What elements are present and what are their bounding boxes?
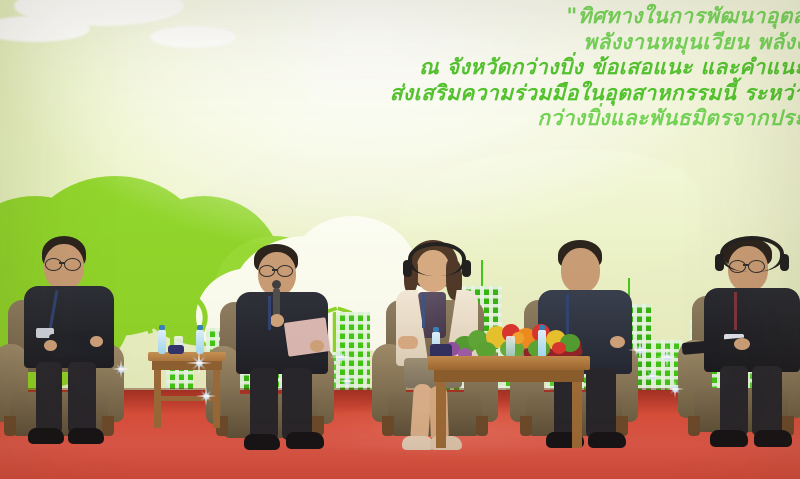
glasses-icon <box>277 265 293 277</box>
lanyard <box>734 292 737 330</box>
hand <box>90 336 103 347</box>
hand <box>734 338 750 350</box>
shoe <box>68 428 104 444</box>
banner-line-1: "ทิศทางในการพัฒนาอุตส <box>186 4 800 30</box>
leg <box>752 366 782 436</box>
glasses-icon <box>259 265 275 277</box>
drinking-glass <box>506 336 515 358</box>
shoe <box>710 430 748 447</box>
headphones-icon <box>720 236 784 272</box>
hand <box>44 340 57 351</box>
banner-line-3: ณ จังหวัดกว่างบิ่ง ข้อเสอแนะ และคำแนะ <box>186 55 800 81</box>
shoe <box>588 432 626 448</box>
leg <box>250 368 278 440</box>
shoe <box>754 430 792 447</box>
banner-line-4: ส่งเสริมความร่วมมือในอุตสาหกรรมนี้ ระหว่… <box>186 81 800 107</box>
leg <box>720 366 748 436</box>
leg <box>36 362 62 434</box>
side-table <box>148 352 226 428</box>
panelist-5 <box>700 238 800 450</box>
shoe <box>244 434 280 450</box>
hand <box>398 336 418 349</box>
leg <box>68 362 96 434</box>
banner-line-5: กว่างบิ่งและพันธมิตรจากประ <box>186 106 800 132</box>
water-bottle <box>538 330 546 358</box>
glasses-icon <box>45 258 62 271</box>
glasses-icon <box>64 258 81 271</box>
panelist-1 <box>16 236 136 446</box>
head <box>561 248 600 293</box>
flower-arrangement <box>452 322 582 358</box>
conference-stage-photo: "ทิศทางในการพัฒนาอุตส พลังงานหมุนเวียน พ… <box>0 0 800 479</box>
panelist-2 <box>228 244 348 450</box>
shoe <box>28 428 64 444</box>
water-bottle <box>196 330 204 354</box>
suit-jacket <box>704 288 800 372</box>
lanyard <box>268 296 271 330</box>
banner-line-2: พลังงานหมุนเวียน พลังง <box>186 30 800 56</box>
headphones-icon <box>408 242 466 276</box>
lanyard <box>422 294 425 328</box>
water-bottle <box>158 330 166 354</box>
leg <box>282 368 312 440</box>
leg <box>586 368 616 438</box>
table-tray <box>168 345 184 354</box>
main-coffee-table <box>428 356 590 448</box>
presentation-papers <box>284 317 330 357</box>
shoe <box>286 432 324 449</box>
hand <box>270 314 284 327</box>
banner-thai-text: "ทิศทางในการพัฒนาอุตส พลังงานหมุนเวียน พ… <box>186 4 800 132</box>
hand <box>310 340 324 352</box>
hand <box>610 336 625 348</box>
